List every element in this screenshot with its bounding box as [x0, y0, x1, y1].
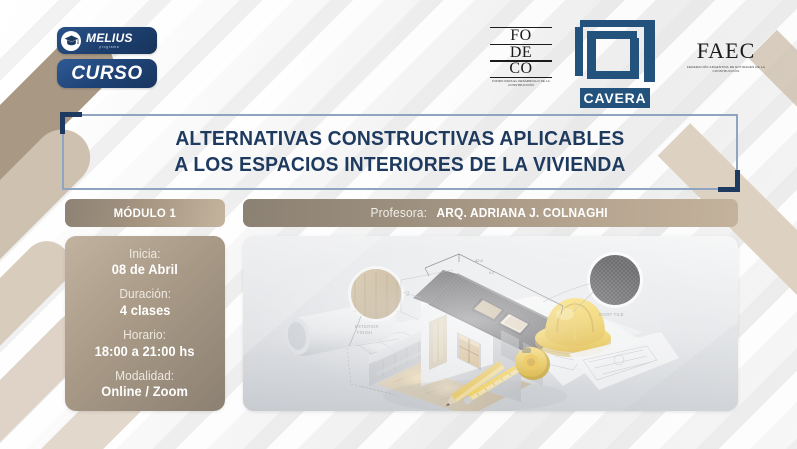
professor-name: ARQ. ADRIANA J. COLNAGHI: [437, 206, 608, 220]
faec-subtitle: FEDERACIÓN ARGENTINA DE ENTIDADES DE LA …: [680, 65, 772, 73]
svg-text:42.0: 42.0: [475, 258, 484, 263]
detail-value-modalidad: Online / Zoom: [102, 384, 189, 400]
course-illustration-panel: EXTERIOR FINISH 42.0: [243, 236, 738, 411]
faec-logo: FAEC FEDERACIÓN ARGENTINA DE ENTIDADES D…: [680, 40, 772, 73]
title-line-1: ALTERNATIVAS CONSTRUCTIVAS APLICABLES: [175, 127, 624, 151]
detail-label-duracion: Duración:: [119, 287, 171, 302]
title-line-2: A LOS ESPACIOS INTERIORES DE LA VIVIENDA: [174, 153, 625, 177]
cavera-square-bracket-mark-icon: [575, 20, 655, 86]
professor-bar: Profesora: ARQ. ADRIANA J. COLNAGHI: [243, 199, 738, 227]
detail-label-modalidad: Modalidad:: [102, 369, 189, 384]
fodeco-subtitle: FONDO PARA EL DESARROLLO DE LA CONSTRUCC…: [490, 80, 552, 88]
detail-item-inicia: Inicia: 08 de Abril: [110, 247, 180, 279]
brand-badges: MELIUS programa CURSO: [57, 27, 157, 88]
course-details-card: Inicia: 08 de Abril Duración: 4 clases H…: [65, 236, 225, 411]
fodeco-logo: FO DE CO FONDO PARA EL DESARROLLO DE LA …: [490, 28, 552, 88]
svg-text:ROOF TILE: ROOF TILE: [599, 312, 624, 317]
detail-value-duracion: 4 clases: [119, 303, 171, 319]
professor-label: Profesora:: [370, 206, 427, 220]
melius-logo-badge: MELIUS programa: [57, 27, 157, 54]
svg-text:8.5: 8.5: [489, 271, 494, 275]
partner-logos: FO DE CO FONDO PARA EL DESARROLLO DE LA …: [490, 20, 770, 110]
title-frame: ALTERNATIVAS CONSTRUCTIVAS APLICABLES A …: [62, 114, 738, 190]
fodeco-line-1: FO: [490, 27, 552, 45]
course-flyer: MELIUS programa CURSO FO DE CO FONDO PAR…: [0, 0, 797, 449]
module-label: MÓDULO 1: [114, 206, 176, 220]
house-render-illustration: EXTERIOR FINISH 42.0: [243, 236, 738, 411]
melius-subtitle: programa: [99, 45, 119, 49]
curso-badge-label: CURSO: [71, 63, 143, 85]
melius-wordmark: MELIUS programa: [86, 32, 133, 49]
module-badge: MÓDULO 1: [65, 199, 225, 227]
detail-item-modalidad: Modalidad: Online / Zoom: [99, 369, 190, 401]
faec-name: FAEC: [680, 40, 772, 62]
page-title: ALTERNATIVAS CONSTRUCTIVAS APLICABLES A …: [62, 114, 738, 190]
cavera-label-bar: CAVERA: [580, 88, 650, 108]
detail-item-duracion: Duración: 4 clases: [118, 287, 172, 319]
svg-text:5.2: 5.2: [406, 291, 410, 296]
curso-badge: CURSO: [57, 59, 157, 88]
cavera-name: CAVERA: [584, 90, 647, 106]
detail-label-horario: Horario:: [95, 328, 195, 343]
detail-label-inicia: Inicia:: [112, 247, 178, 262]
cavera-logo: CAVERA: [575, 20, 655, 108]
detail-item-horario: Horario: 18:00 a 21:00 hs: [92, 328, 197, 360]
fodeco-line-3: CO: [490, 60, 552, 78]
detail-value-horario: 18:00 a 21:00 hs: [95, 344, 195, 360]
melius-name: MELIUS: [86, 32, 133, 44]
graduation-cap-icon: [61, 31, 81, 51]
svg-text:EXTERIOR: EXTERIOR: [355, 324, 379, 329]
svg-text:FINISH: FINISH: [357, 330, 373, 335]
fodeco-line-2: DE: [490, 44, 552, 62]
detail-value-inicia: 08 de Abril: [112, 262, 178, 278]
